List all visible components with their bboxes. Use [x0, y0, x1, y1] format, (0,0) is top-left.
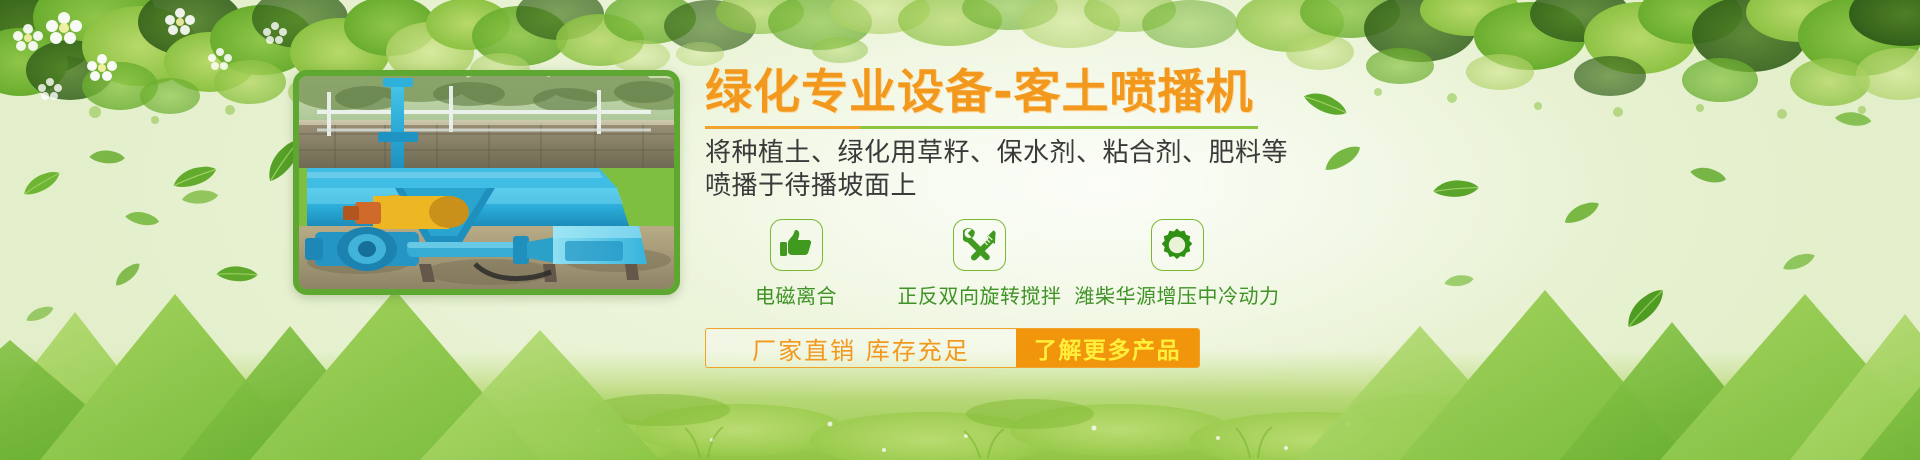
page-title: 绿化专业设备-客土喷播机: [705, 68, 1825, 119]
feature-item-bidirectional-mixing: 正反双向旋转搅拌: [887, 219, 1072, 309]
promo-banner: 绿化专业设备-客土喷播机 将种植土、绿化用草籽、保水剂、粘合剂、肥料等 喷播于待…: [0, 0, 1920, 460]
feature-label: 电磁离合: [755, 280, 837, 309]
banner-content: 绿化专业设备-客土喷播机 将种植土、绿化用草籽、保水剂、粘合剂、肥料等 喷播于待…: [705, 68, 1825, 368]
feature-item-electromagnetic-clutch: 电磁离合: [705, 219, 887, 309]
product-photo-frame[interactable]: [293, 70, 680, 295]
feature-label: 正反双向旋转搅拌: [898, 280, 1062, 309]
leaf-decoration: [18, 169, 65, 200]
learn-more-button[interactable]: 了解更多产品: [1016, 329, 1199, 367]
leaf-decoration: [167, 164, 223, 191]
feature-item-weichai-power: 潍柴华源增压中冷动力: [1072, 219, 1282, 309]
cta-bar: 厂家直销 库存充足 了解更多产品: [705, 328, 1200, 368]
feature-list: 电磁离合: [705, 219, 1825, 309]
leaf-decoration: [177, 188, 222, 209]
banner-subtitle: 将种植土、绿化用草籽、保水剂、粘合剂、肥料等 喷播于待播坡面上: [705, 137, 1825, 204]
feature-label: 潍柴华源增压中冷动力: [1075, 280, 1280, 309]
subtitle-line-1: 将种植土、绿化用草籽、保水剂、粘合剂、肥料等: [705, 137, 1825, 170]
subtitle-line-2: 喷播于待播坡面上: [705, 170, 1825, 203]
cta-slogan: 厂家直销 库存充足: [706, 329, 1016, 367]
tools-icon: [953, 219, 1006, 271]
title-underline-rule: [705, 126, 1258, 129]
gear-icon: [1151, 219, 1204, 271]
thumbs-up-icon: [770, 219, 823, 271]
product-photo: [299, 76, 674, 289]
